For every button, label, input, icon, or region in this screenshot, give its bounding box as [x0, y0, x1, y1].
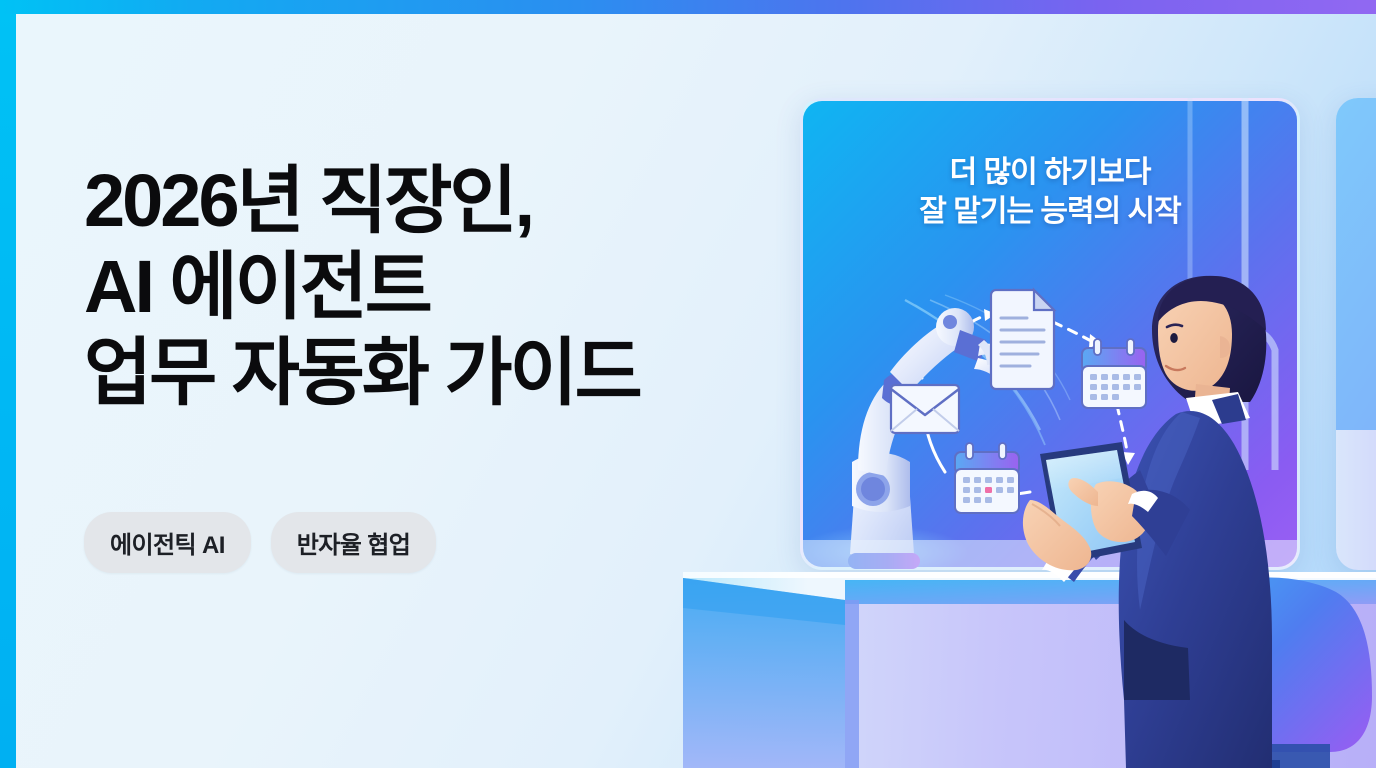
headline-line-1: 2026년 직장인,: [84, 158, 784, 244]
card-caption-line-1: 더 많이 하기보다: [803, 153, 1297, 192]
office-floor: [683, 596, 1376, 768]
headline-line-3: 업무 자동화 가이드: [84, 330, 784, 416]
desk: [683, 572, 1376, 768]
tag-semi-autonomous-collab[interactable]: 반자율 협업: [271, 512, 436, 573]
left-accent-stripe: [0, 0, 16, 768]
tag-list: 에이전틱 AI 반자율 협업: [84, 512, 436, 573]
page-title: 2026년 직장인, AI 에이전트 업무 자동화 가이드: [84, 158, 784, 415]
office-chair: [1176, 577, 1373, 768]
tag-agentic-ai[interactable]: 에이전틱 AI: [84, 512, 251, 573]
headline-line-2: AI 에이전트: [84, 244, 784, 330]
card-caption: 더 많이 하기보다 잘 맡기는 능력의 시작: [803, 153, 1297, 231]
card-caption-line-2: 잘 맡기는 능력의 시작: [803, 192, 1297, 231]
hero-banner: 2026년 직장인, AI 에이전트 업무 자동화 가이드 에이전틱 AI 반자…: [0, 0, 1376, 768]
card-secondary-peek[interactable]: [1336, 98, 1376, 570]
top-accent-bar: [0, 0, 1376, 14]
card-primary[interactable]: 더 많이 하기보다 잘 맡기는 능력의 시작: [800, 98, 1300, 570]
